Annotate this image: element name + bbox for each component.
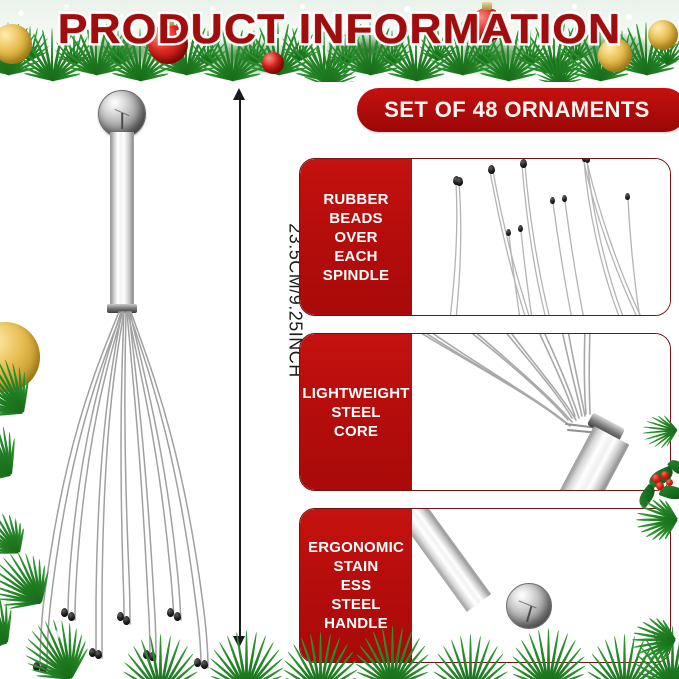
set-count-banner: SET OF 48 ORNAMENTS: [357, 88, 679, 132]
rubber-bead-tip: [174, 612, 181, 621]
feature-label-line: OVER: [334, 228, 377, 247]
feature-card-label: LIGHTWEIGHT STEEL CORE: [300, 334, 412, 490]
feature-card-label: RUBBER BEADS OVER EACH SPINDLE: [300, 159, 412, 315]
product-photo: [0, 82, 290, 679]
rubber-bead-tip: [488, 165, 495, 174]
feature-card-rubber-beads[interactable]: RUBBER BEADS OVER EACH SPINDLE: [299, 158, 671, 316]
rubber-bead-tip: [167, 608, 174, 617]
feature-label-line: STEEL: [331, 403, 380, 422]
rubber-bead-tip: [68, 612, 75, 621]
feature-card-label: ERGONOMIC STAIN ESS STEEL HANDLE: [300, 509, 412, 662]
frost-dot-icon: [54, 630, 62, 638]
feature-card-photo-wire-junction: [412, 334, 670, 490]
dimension-line: [239, 96, 241, 638]
red-bauble-icon: [262, 52, 284, 74]
feature-card-photo-spindle-tips: [412, 159, 670, 315]
holly-berry-icon: [666, 479, 673, 486]
feature-label-line: ERGONOMIC: [308, 538, 404, 557]
spindle-wires: [0, 308, 290, 668]
set-count-banner-label: SET OF 48 ORNAMENTS: [384, 97, 660, 123]
page-title: PRODUCT INFORMATION: [0, 4, 679, 54]
feature-label-line: LIGHTWEIGHT: [302, 384, 409, 403]
rubber-bead-tip: [520, 159, 527, 168]
handle-shaft: [110, 132, 134, 307]
holly-berry-icon: [661, 471, 669, 479]
rubber-bead-tip: [456, 177, 463, 186]
rubber-bead-tip: [562, 195, 567, 202]
rubber-bead-tip: [506, 229, 511, 236]
rubber-bead-tip: [518, 225, 523, 232]
product-information-infographic: PRODUCT INFORMATION PRODUCT INFORMATION: [0, 0, 679, 679]
feature-label-line: RUBBER: [323, 190, 388, 209]
handle-ball: [506, 583, 552, 629]
handle-ball: [98, 90, 146, 138]
rubber-bead-tip: [585, 159, 590, 163]
feature-label-line: HANDLE: [324, 614, 388, 633]
holly-berry-icon: [656, 482, 664, 490]
feature-card-steel-core[interactable]: LIGHTWEIGHT STEEL CORE: [299, 333, 671, 491]
feature-label-line: STEEL: [331, 595, 380, 614]
rubber-bead-tip: [550, 197, 555, 204]
feature-label-line: STAIN: [334, 557, 379, 576]
frost-dot-icon: [14, 512, 23, 521]
rubber-bead-tip: [123, 616, 130, 625]
feature-label-line: EACH: [334, 247, 377, 266]
rubber-bead-tip: [95, 650, 102, 659]
feature-label-line: ESS: [341, 576, 372, 595]
rubber-bead-tip: [61, 608, 68, 617]
frost-dot-icon: [30, 534, 37, 541]
rubber-bead-tip: [201, 660, 208, 669]
handle-shaft: [412, 509, 491, 612]
feature-label-line: CORE: [334, 422, 378, 441]
feature-label-line: BEADS: [329, 209, 383, 228]
rubber-bead-tip: [625, 193, 630, 200]
header-garland-band: PRODUCT INFORMATION PRODUCT INFORMATION: [0, 0, 679, 82]
feature-label-line: SPINDLE: [323, 266, 389, 285]
